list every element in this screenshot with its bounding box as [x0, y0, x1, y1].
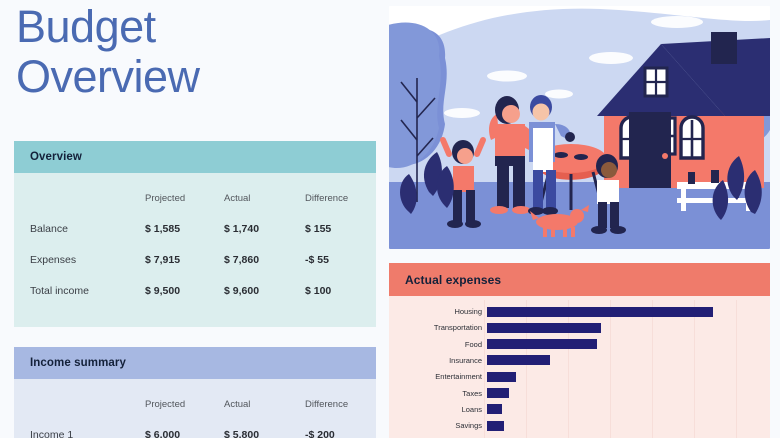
page-title-line1: Budget — [16, 1, 156, 52]
table-row: Expenses $ 7,915 $ 7,860 -$ 55 — [14, 244, 376, 275]
cell-difference: $ 155 — [305, 213, 376, 244]
page-title-line2: Overview — [16, 52, 376, 102]
cell-projected: $ 7,915 — [145, 244, 224, 275]
column-header-actual: Actual — [224, 173, 305, 213]
cell-actual: $ 5,800 — [224, 419, 305, 438]
chart-bar-row: Transportation — [389, 321, 601, 334]
chart-bar-row: Savings — [389, 419, 504, 432]
illustration-svg — [389, 6, 770, 249]
chart-bar-label: Taxes — [389, 387, 487, 400]
chart-bar-label: Food — [389, 338, 487, 351]
chart-bar-row: Taxes — [389, 387, 509, 400]
chart-bar-row: Housing — [389, 305, 713, 318]
chart-gridline — [736, 300, 737, 438]
income-summary-body: Projected Actual Difference Income 1 $ 6… — [14, 379, 376, 438]
row-label: Expenses — [14, 244, 145, 275]
chart-bar — [487, 355, 550, 365]
column-header-projected: Projected — [145, 379, 224, 419]
chart-gridline — [652, 300, 653, 438]
column-header-blank — [14, 173, 145, 213]
cell-projected: $ 1,585 — [145, 213, 224, 244]
expenses-bar-chart: HousingTransportationFoodInsuranceEntert… — [389, 296, 770, 438]
chart-gridline — [694, 300, 695, 438]
chart-bar-row: Food — [389, 338, 597, 351]
table-row: Total income $ 9,500 $ 9,600 $ 100 — [14, 275, 376, 306]
cell-actual: $ 1,740 — [224, 213, 305, 244]
chart-bar — [487, 323, 601, 333]
row-label: Income 1 — [14, 419, 145, 438]
chart-bar-label: Transportation — [389, 321, 487, 334]
slide-root: Budget Overview Overview Projected Actua… — [0, 0, 780, 438]
table-header-row: Projected Actual Difference — [14, 173, 376, 213]
actual-expenses-card: Actual expenses HousingTransportationFoo… — [389, 263, 770, 438]
page-title: Budget Overview — [16, 2, 376, 102]
column-header-actual: Actual — [224, 379, 305, 419]
cell-projected: $ 6,000 — [145, 419, 224, 438]
chart-bar — [487, 339, 597, 349]
cell-difference: -$ 55 — [305, 244, 376, 275]
chart-bar-row: Insurance — [389, 354, 550, 367]
income-summary-header: Income summary — [14, 347, 376, 379]
chart-bar-label: Entertainment — [389, 370, 487, 383]
chart-bar-row: Loans — [389, 403, 502, 416]
chart-bar — [487, 404, 502, 414]
income-summary-card: Income summary Projected Actual Differen… — [14, 347, 376, 438]
table-row: Income 1 $ 6,000 $ 5,800 -$ 200 — [14, 419, 376, 438]
column-header-blank — [14, 379, 145, 419]
cell-projected: $ 9,500 — [145, 275, 224, 306]
chart-gridline — [610, 300, 611, 438]
table-row: Balance $ 1,585 $ 1,740 $ 155 — [14, 213, 376, 244]
overview-table-header: Overview — [14, 141, 376, 173]
chart-bar-label: Housing — [389, 305, 487, 318]
table-header-row: Projected Actual Difference — [14, 379, 376, 419]
overview-table-card: Overview Projected Actual Difference Bal… — [14, 141, 376, 327]
overview-table-body: Projected Actual Difference Balance $ 1,… — [14, 173, 376, 327]
cell-difference: $ 100 — [305, 275, 376, 306]
cell-actual: $ 7,860 — [224, 244, 305, 275]
chart-bar — [487, 372, 516, 382]
chart-bar-label: Insurance — [389, 354, 487, 367]
column-header-difference: Difference — [305, 173, 376, 213]
row-label: Total income — [14, 275, 145, 306]
chart-bar-row: Entertainment — [389, 370, 516, 383]
chart-bar — [487, 388, 509, 398]
actual-expenses-header: Actual expenses — [389, 263, 770, 296]
chart-bar-label: Loans — [389, 403, 487, 416]
actual-expenses-body: HousingTransportationFoodInsuranceEntert… — [389, 296, 770, 438]
cell-difference: -$ 200 — [305, 419, 376, 438]
chart-bar — [487, 307, 713, 317]
row-label: Balance — [14, 213, 145, 244]
chart-bar-label: Savings — [389, 419, 487, 432]
cell-actual: $ 9,600 — [224, 275, 305, 306]
chart-bar — [487, 421, 504, 431]
overview-table: Projected Actual Difference Balance $ 1,… — [14, 173, 376, 306]
column-header-difference: Difference — [305, 379, 376, 419]
family-bbq-house-illustration — [389, 6, 770, 249]
column-header-projected: Projected — [145, 173, 224, 213]
income-summary-table: Projected Actual Difference Income 1 $ 6… — [14, 379, 376, 438]
